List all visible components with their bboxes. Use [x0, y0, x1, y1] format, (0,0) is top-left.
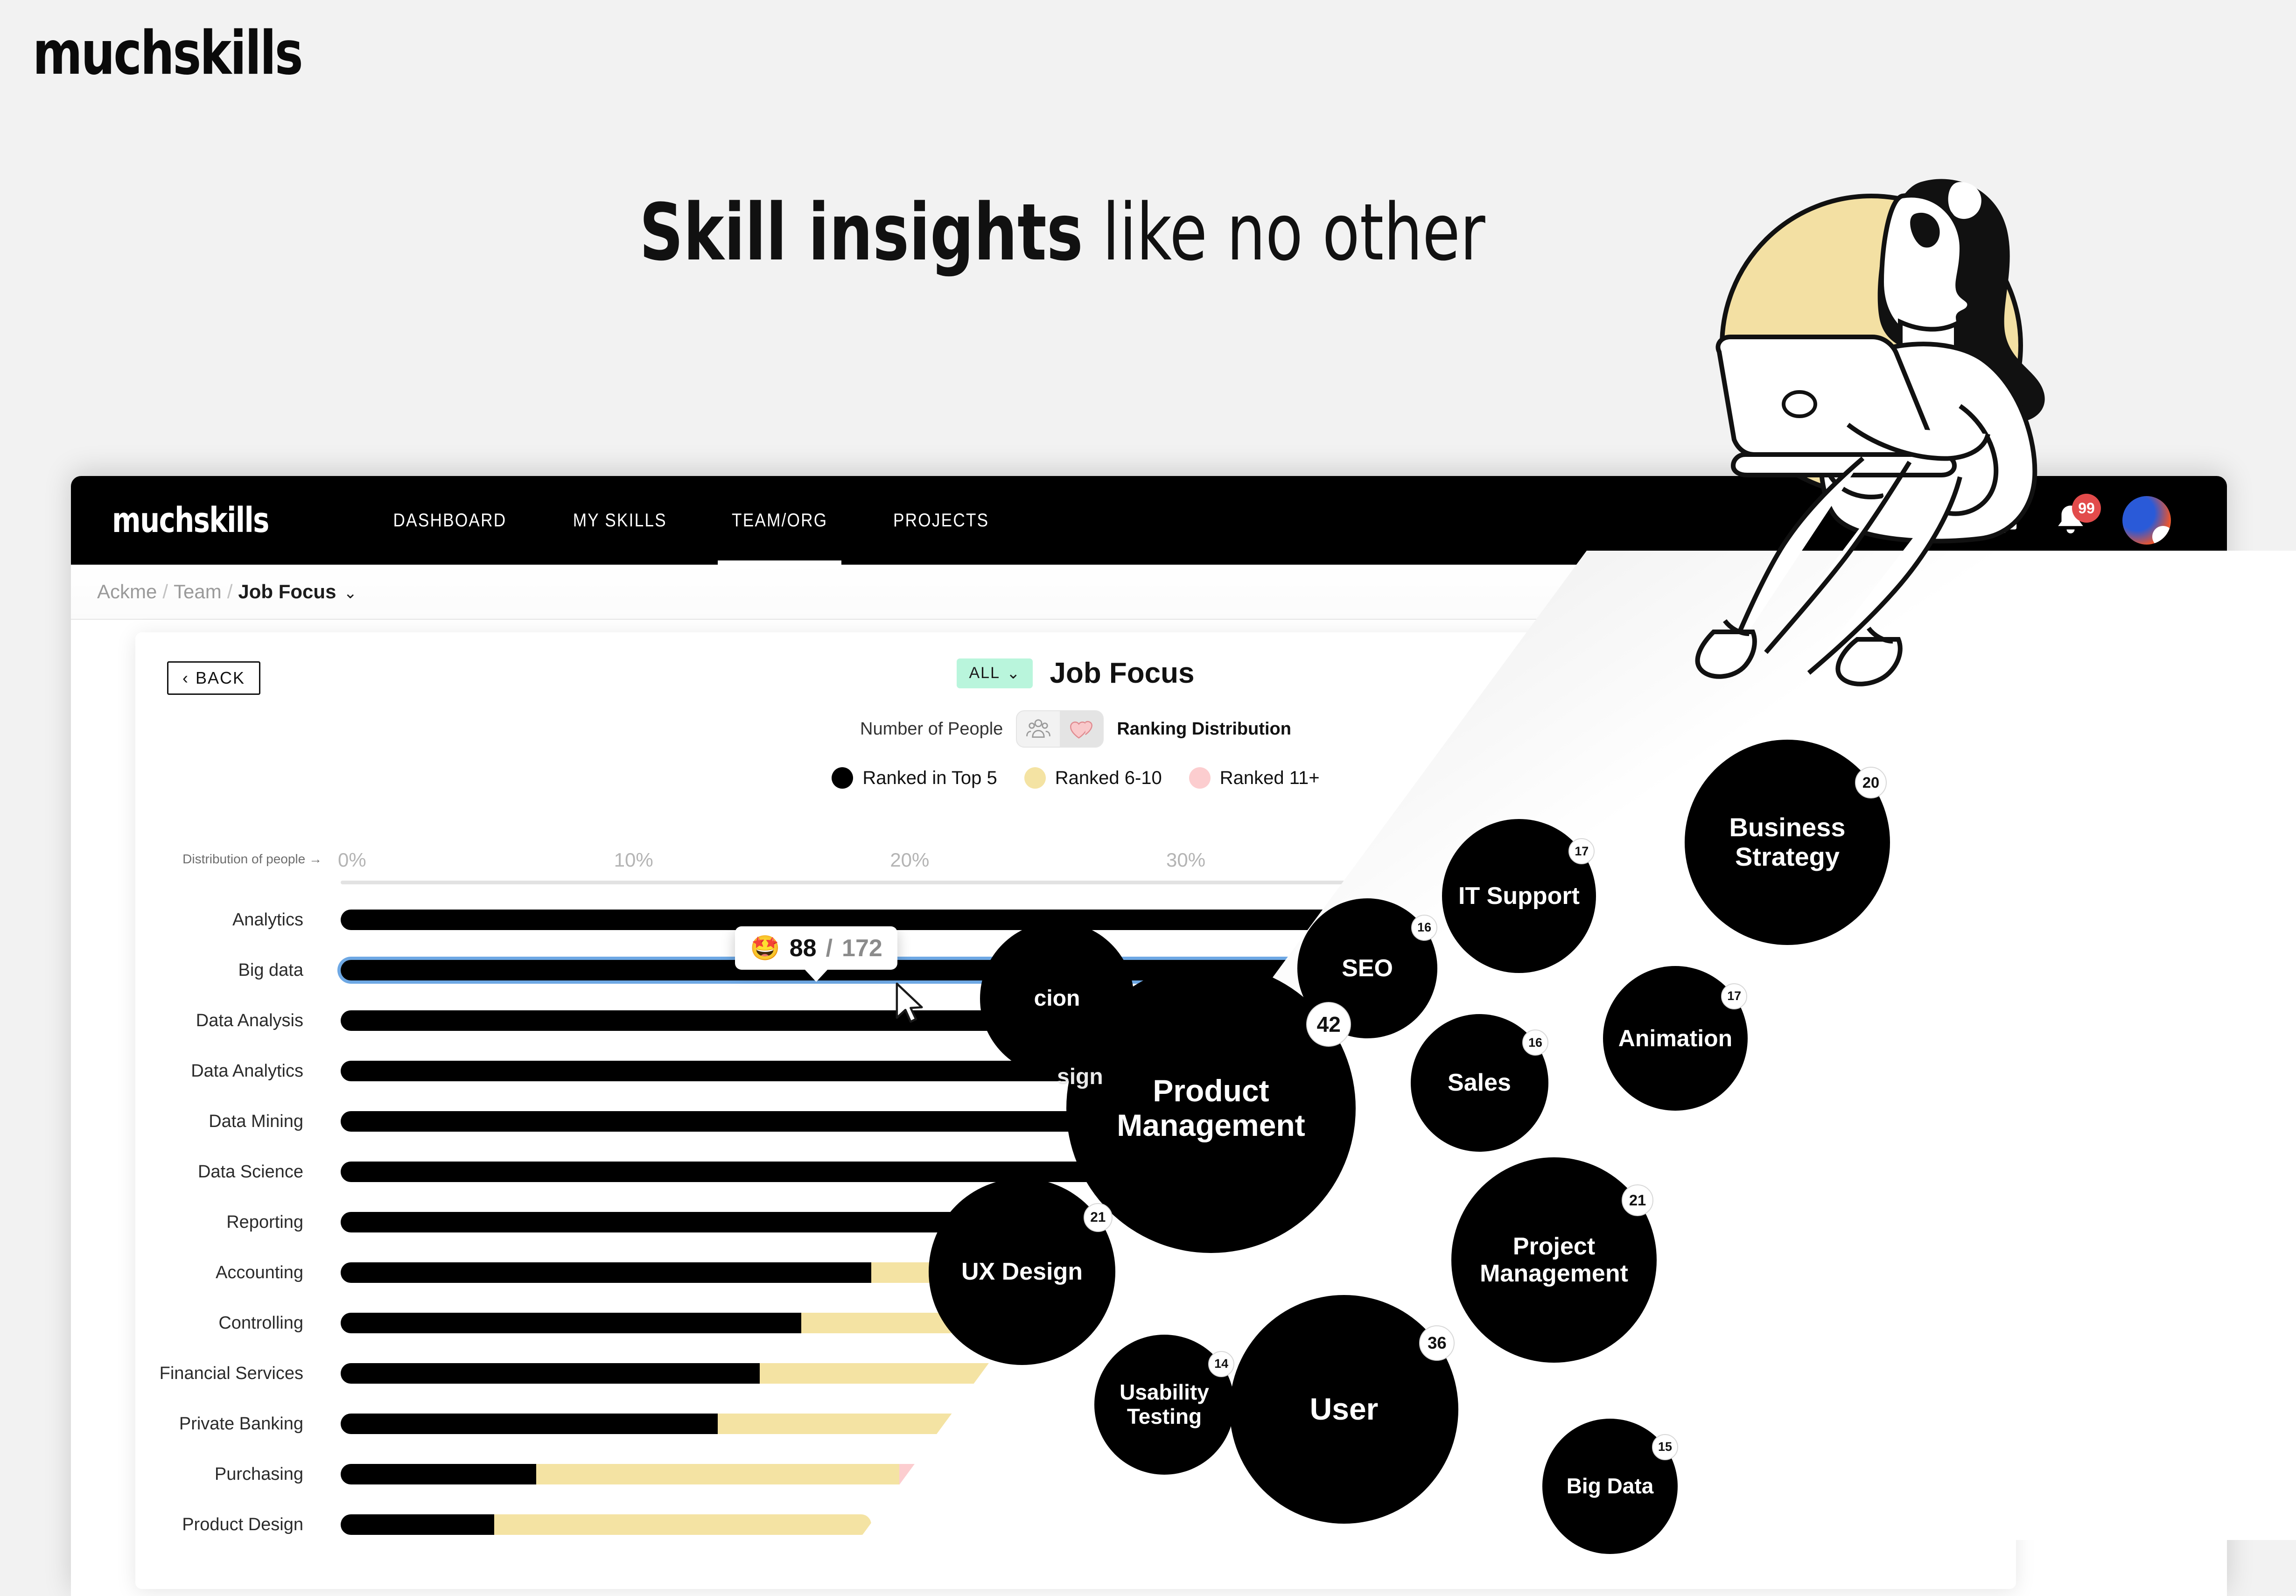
skill-bubble[interactable]: User — [1230, 1295, 1458, 1524]
skill-bubble-count: 16 — [1522, 1029, 1548, 1056]
tooltip-separator: / — [826, 934, 833, 962]
tooltip-total: 172 — [842, 934, 882, 962]
woman-with-laptop-illustration — [1680, 145, 2091, 695]
skill-bubble-label: IT Support — [1458, 882, 1580, 910]
skill-bubble-label: User — [1310, 1392, 1379, 1427]
skill-bubble-count: 16 — [1411, 915, 1437, 941]
skill-bubble-count: 21 — [1084, 1203, 1113, 1232]
skill-bubble[interactable]: Business Strategy — [1685, 740, 1890, 945]
skill-bubble-label: Business Strategy — [1692, 813, 1883, 871]
skill-bubble-count: 15 — [1652, 1434, 1678, 1460]
skill-bubble[interactable]: cion — [980, 922, 1134, 1076]
star-struck-emoji: 🤩 — [750, 934, 780, 962]
tooltip-value: 88 — [790, 934, 817, 962]
bubble-label-partial: sign — [1057, 1064, 1103, 1090]
skill-bubble-count: 17 — [1568, 838, 1595, 864]
skill-bubble-label: cion — [1034, 986, 1080, 1011]
skill-bubble-label: Animation — [1618, 1025, 1732, 1051]
skill-bubble-label: Product Management — [1074, 1074, 1348, 1143]
skill-bubble-label: Usability Testing — [1102, 1380, 1227, 1428]
skill-bubble-count: 20 — [1855, 767, 1887, 798]
bar-tooltip: 🤩 88/172 — [735, 926, 897, 970]
skill-bubble-label: UX Design — [961, 1258, 1083, 1285]
skill-bubble-count: 14 — [1208, 1351, 1234, 1377]
skill-bubble-label: SEO — [1342, 955, 1393, 982]
skill-bubble[interactable]: Project Management — [1451, 1157, 1657, 1363]
skill-bubble-label: Sales — [1448, 1069, 1511, 1096]
skill-bubble-count: 42 — [1306, 1002, 1351, 1047]
skill-bubble-count: 21 — [1622, 1184, 1653, 1216]
skill-bubble-count: 17 — [1721, 983, 1747, 1009]
skill-bubble-label: Big Data — [1567, 1474, 1654, 1498]
skill-bubble[interactable]: UX Design — [929, 1178, 1115, 1365]
skill-bubble-count: 36 — [1419, 1325, 1455, 1361]
skill-bubble-label: Project Management — [1459, 1233, 1649, 1287]
mouse-pointer — [894, 982, 926, 1024]
